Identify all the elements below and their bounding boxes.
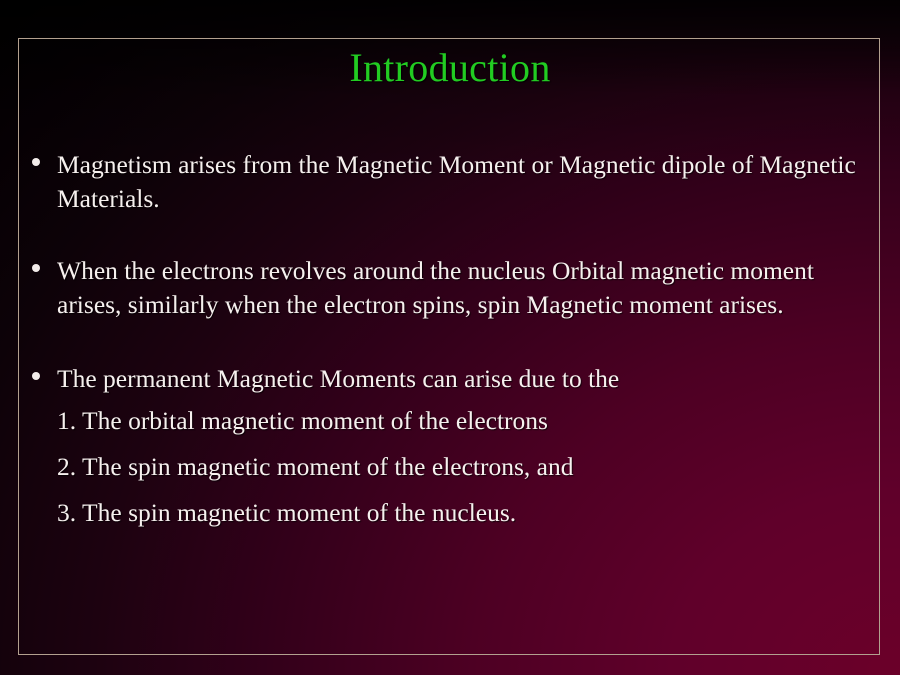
list-item-label: The spin magnetic moment of the electron…	[82, 452, 573, 481]
slide-canvas: Introduction Magnetism arises from the M…	[0, 0, 900, 675]
bullet-dot-icon	[32, 372, 40, 380]
slide-title: Introduction	[0, 47, 900, 89]
bullet-text: When the electrons revolves around the n…	[57, 256, 814, 319]
list-item-label: The orbital magnetic moment of the elect…	[82, 406, 548, 435]
list-item-number: 2.	[57, 444, 76, 490]
list-item-label: The spin magnetic moment of the nucleus.	[82, 498, 516, 527]
bullet-item: When the electrons revolves around the n…	[26, 254, 872, 322]
list-item: 3. The spin magnetic moment of the nucle…	[57, 490, 872, 536]
bullet-text: Magnetism arises from the Magnetic Momen…	[57, 150, 856, 213]
numbered-list: 1. The orbital magnetic moment of the el…	[26, 398, 872, 536]
slide-body: Magnetism arises from the Magnetic Momen…	[26, 148, 872, 536]
bullet-item: The permanent Magnetic Moments can arise…	[26, 362, 872, 396]
bullet-item: Magnetism arises from the Magnetic Momen…	[26, 148, 872, 216]
bullet-dot-icon	[32, 264, 40, 272]
list-item: 2. The spin magnetic moment of the elect…	[57, 444, 872, 490]
list-item-number: 1.	[57, 398, 76, 444]
slide-content: Introduction Magnetism arises from the M…	[0, 0, 900, 675]
spacer	[26, 216, 872, 254]
spacer	[26, 322, 872, 362]
bullet-dot-icon	[32, 158, 40, 166]
list-item: 1. The orbital magnetic moment of the el…	[57, 398, 872, 444]
list-item-number: 3.	[57, 490, 76, 536]
bullet-text: The permanent Magnetic Moments can arise…	[57, 364, 619, 393]
